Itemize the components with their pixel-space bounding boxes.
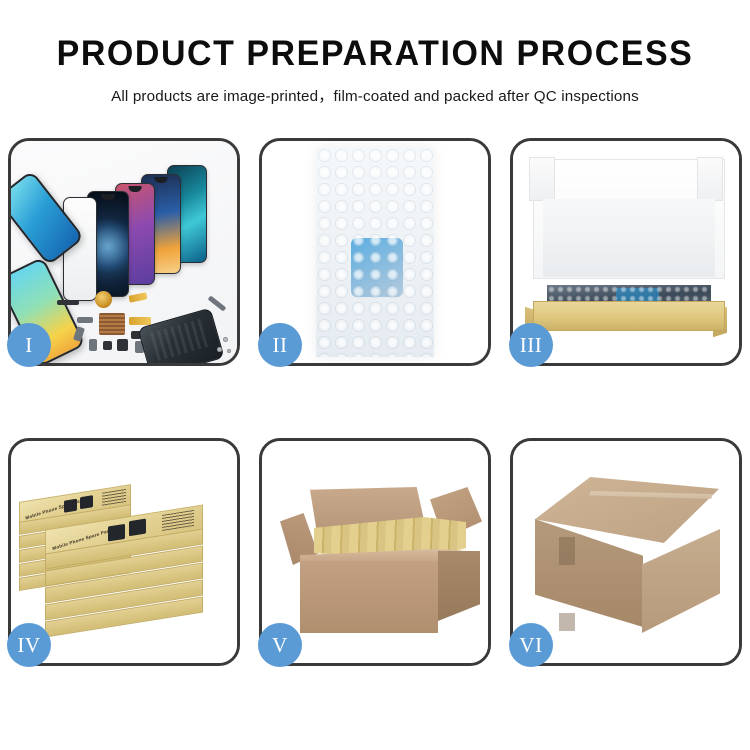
part-chip-array [99, 313, 125, 335]
carton-seam-bottom [559, 613, 575, 631]
mailer-flap-left [529, 157, 555, 201]
phone-chassis-open [137, 308, 224, 363]
product-preparation-infographic: PRODUCT PREPARATION PROCESS All products… [0, 0, 750, 750]
process-step-panel-6: VI [510, 438, 742, 666]
part-bracket [77, 317, 93, 323]
bubble-wrap-sheet [316, 147, 434, 357]
notch-icon [101, 194, 115, 200]
box-art-screen [108, 524, 125, 542]
step-badge-2: II [258, 323, 302, 367]
part-screw [217, 347, 222, 352]
page-title: PRODUCT PREPARATION PROCESS [11, 34, 739, 74]
box-spec-lines [102, 489, 126, 506]
carton-side-face [438, 551, 480, 621]
notch-icon [155, 177, 168, 183]
process-step-panel-5: V [259, 438, 491, 666]
part-camera-module [117, 339, 128, 351]
box-art-screen [80, 495, 93, 509]
box-art-screen [129, 519, 146, 537]
part-tweezers [208, 295, 227, 311]
mailer-interior [543, 199, 715, 277]
part-antenna-strip [57, 300, 79, 305]
step-badge-1: I [7, 323, 51, 367]
step-badge-3: III [509, 323, 553, 367]
part-screw [223, 337, 228, 342]
part-flex-cable-gold [128, 292, 147, 303]
part-speaker [103, 341, 112, 350]
sealed-carton-right-face [642, 529, 720, 633]
box-art-screen [64, 499, 77, 513]
process-step-grid: I II [8, 138, 742, 666]
process-step-panel-1: I [8, 138, 240, 366]
step-badge-6: VI [509, 623, 553, 667]
carton-front-face [300, 561, 438, 633]
header: PRODUCT PREPARATION PROCESS All products… [0, 0, 750, 106]
carton-seam-top [559, 537, 575, 565]
part-copper-coil [95, 291, 112, 308]
process-step-panel-2: II [259, 138, 491, 366]
step-badge-5: V [258, 623, 302, 667]
bubble-texture [316, 147, 434, 357]
box-spec-lines [162, 510, 194, 531]
part-flex-cable-2 [129, 317, 151, 325]
part-sim-tray [89, 339, 97, 351]
mailer-flap-right [697, 157, 723, 201]
page-subtitle: All products are image-printed，film-coat… [0, 84, 750, 106]
process-step-panel-3: III [510, 138, 742, 366]
step-badge-4: IV [7, 623, 51, 667]
notch-icon [129, 186, 142, 192]
part-screw [227, 349, 231, 353]
mailer-base-kraft [533, 301, 725, 331]
process-step-panel-4: Mobile Phone Spare Parts Mobile Phone Sp… [8, 438, 240, 666]
